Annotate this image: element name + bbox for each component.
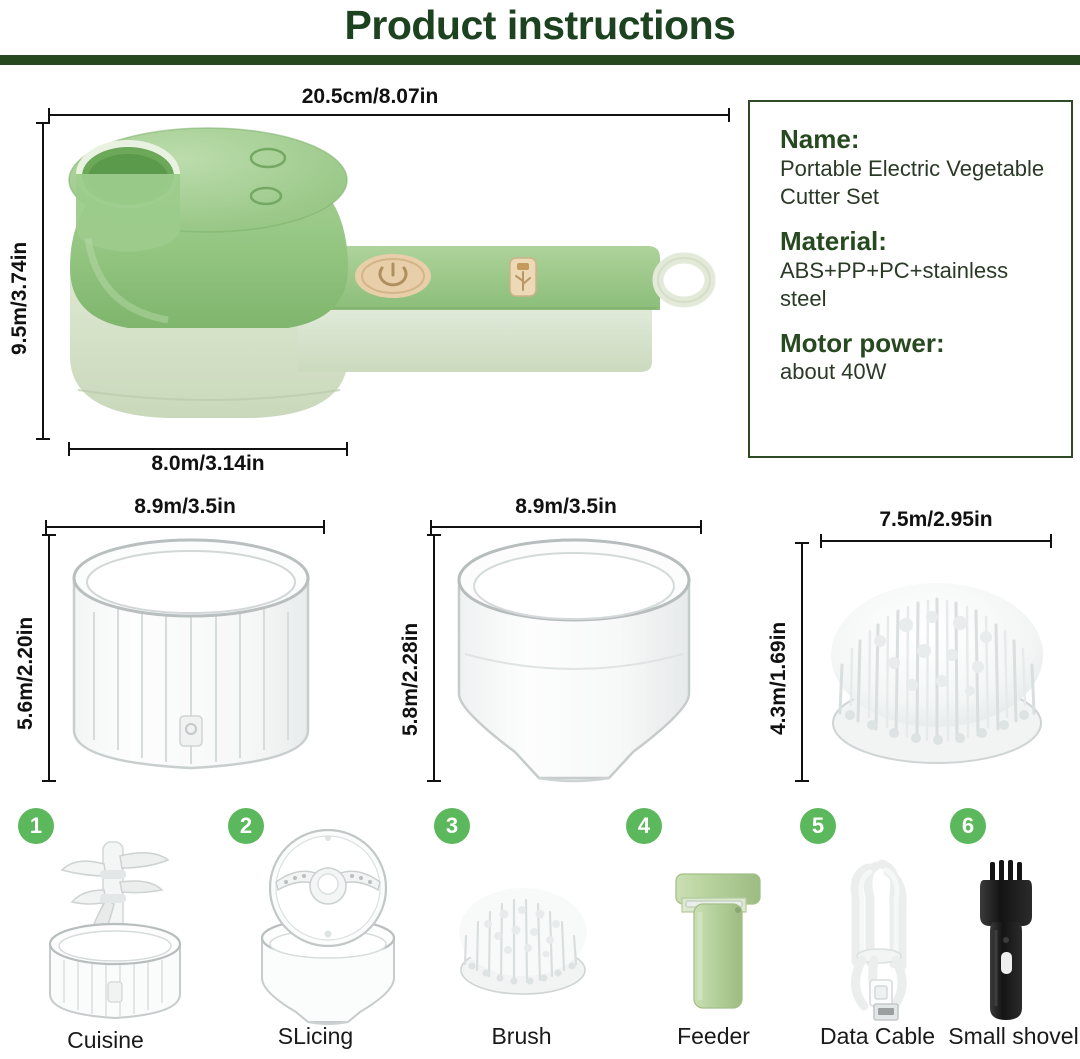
accessory-item-small-shovel: 6 xyxy=(940,808,1080,1056)
cuisine-bowl-width-dimension-line xyxy=(45,520,325,534)
usb-cable-icon xyxy=(830,852,936,1024)
accessory-badge-3: 3 xyxy=(434,808,470,844)
cuisine-bowl-height-label: 5.6m/2.20in xyxy=(14,617,38,730)
slicing-bowl-height-dimension-line xyxy=(427,534,441,782)
bowl-with-blade-icon xyxy=(40,838,190,1023)
brush-width-label: 7.5m/2.95in xyxy=(820,508,1052,532)
accessory-item-brush: 3 xyxy=(434,808,609,1056)
device-height-label: 9.5m/3.74in xyxy=(8,242,32,355)
accessory-badge-6: 6 xyxy=(950,808,986,844)
slicing-bowl-width-dimension-line xyxy=(430,520,702,534)
spec-value-material: ABS+PP+PC+stainless steel xyxy=(780,257,1051,314)
accessory-label-feeder: Feeder xyxy=(626,1023,801,1050)
cuisine-bowl-illustration xyxy=(60,534,322,784)
slicing-bowl-height-label: 5.8m/2.28in xyxy=(399,623,423,736)
accessory-label-small-shovel: Small shovel xyxy=(926,1023,1080,1050)
cuisine-bowl-height-dimension-line xyxy=(42,534,56,782)
spec-value-motor-power: about 40W xyxy=(780,358,1051,387)
accessory-label-slicing: SLicing xyxy=(228,1023,403,1050)
main-device-illustration xyxy=(48,118,738,438)
accessory-label-cuisine: Cuisine xyxy=(18,1027,193,1054)
product-spec-card: Name: Portable Electric Vegetable Cutter… xyxy=(748,100,1073,458)
accessory-item-feeder: 4 Feeder xyxy=(626,808,801,1056)
small-shovel-icon xyxy=(968,860,1048,1024)
accessory-item-slicing: 2 xyxy=(228,808,403,1056)
peeler-feeder-icon xyxy=(664,868,772,1016)
page-title: Product instructions xyxy=(0,2,1080,49)
device-base-label: 8.0m/3.14in xyxy=(68,452,348,476)
spec-value-name: Portable Electric Vegetable Cutter Set xyxy=(780,155,1051,212)
brush-height-dimension-line xyxy=(795,542,809,782)
accessory-badge-5: 5 xyxy=(800,808,836,844)
accessory-label-brush: Brush xyxy=(434,1023,609,1050)
slicing-bowl-illustration xyxy=(443,534,705,784)
accessory-badge-4: 4 xyxy=(626,808,662,844)
product-instructions-infographic: Product instructions 20.5cm/8.07in 9.5m/… xyxy=(0,0,1080,1059)
device-width-label: 20.5cm/8.07in xyxy=(200,85,540,109)
brush-head-icon xyxy=(452,874,594,1000)
slicing-disc-icon xyxy=(250,826,402,1026)
spec-label-motor-power: Motor power: xyxy=(780,328,1051,359)
title-divider xyxy=(0,55,1080,65)
slicing-bowl-width-label: 8.9m/3.5in xyxy=(430,495,702,519)
accessory-item-cuisine: 1 xyxy=(18,808,193,1056)
spec-label-name: Name: xyxy=(780,124,1051,155)
brush-head-illustration xyxy=(820,545,1055,780)
brush-height-label: 4.3m/1.69in xyxy=(767,622,791,735)
spec-label-material: Material: xyxy=(780,226,1051,257)
cuisine-bowl-width-label: 8.9m/3.5in xyxy=(45,495,325,519)
